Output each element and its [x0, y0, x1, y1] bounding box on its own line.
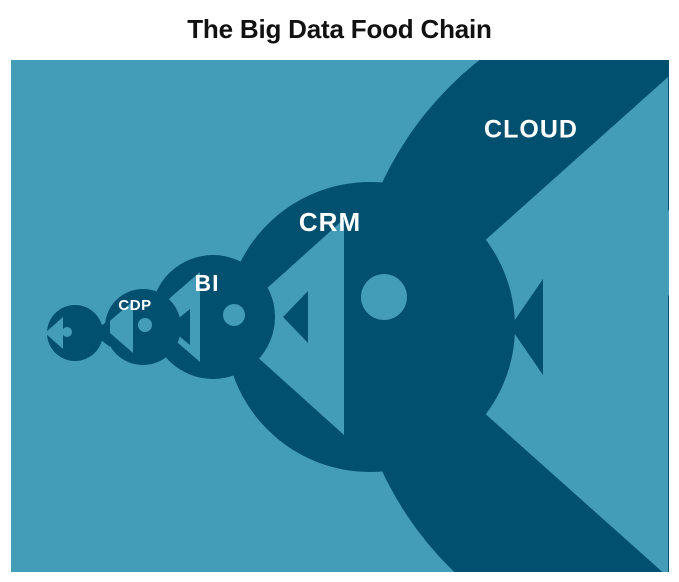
fish-crm-eye: [361, 274, 407, 320]
infographic-page: The Big Data Food Chain CLOUD CRM BI CDP: [0, 0, 679, 582]
fish-cdp-eye: [138, 318, 152, 332]
fish-crm-label: CRM: [299, 207, 361, 237]
fish-bi-eye: [223, 304, 245, 326]
fish-cdp-label: CDP: [118, 297, 151, 314]
fish-bi-label: BI: [195, 270, 220, 296]
fish-cloud-label: CLOUD: [484, 116, 578, 144]
fish-tiny-body: [47, 305, 103, 361]
chart-panel: CLOUD CRM BI CDP: [11, 60, 669, 572]
fish-tiny-eye: [62, 327, 72, 337]
food-chain-diagram: CLOUD CRM BI CDP: [11, 60, 669, 572]
page-title: The Big Data Food Chain: [0, 0, 679, 60]
